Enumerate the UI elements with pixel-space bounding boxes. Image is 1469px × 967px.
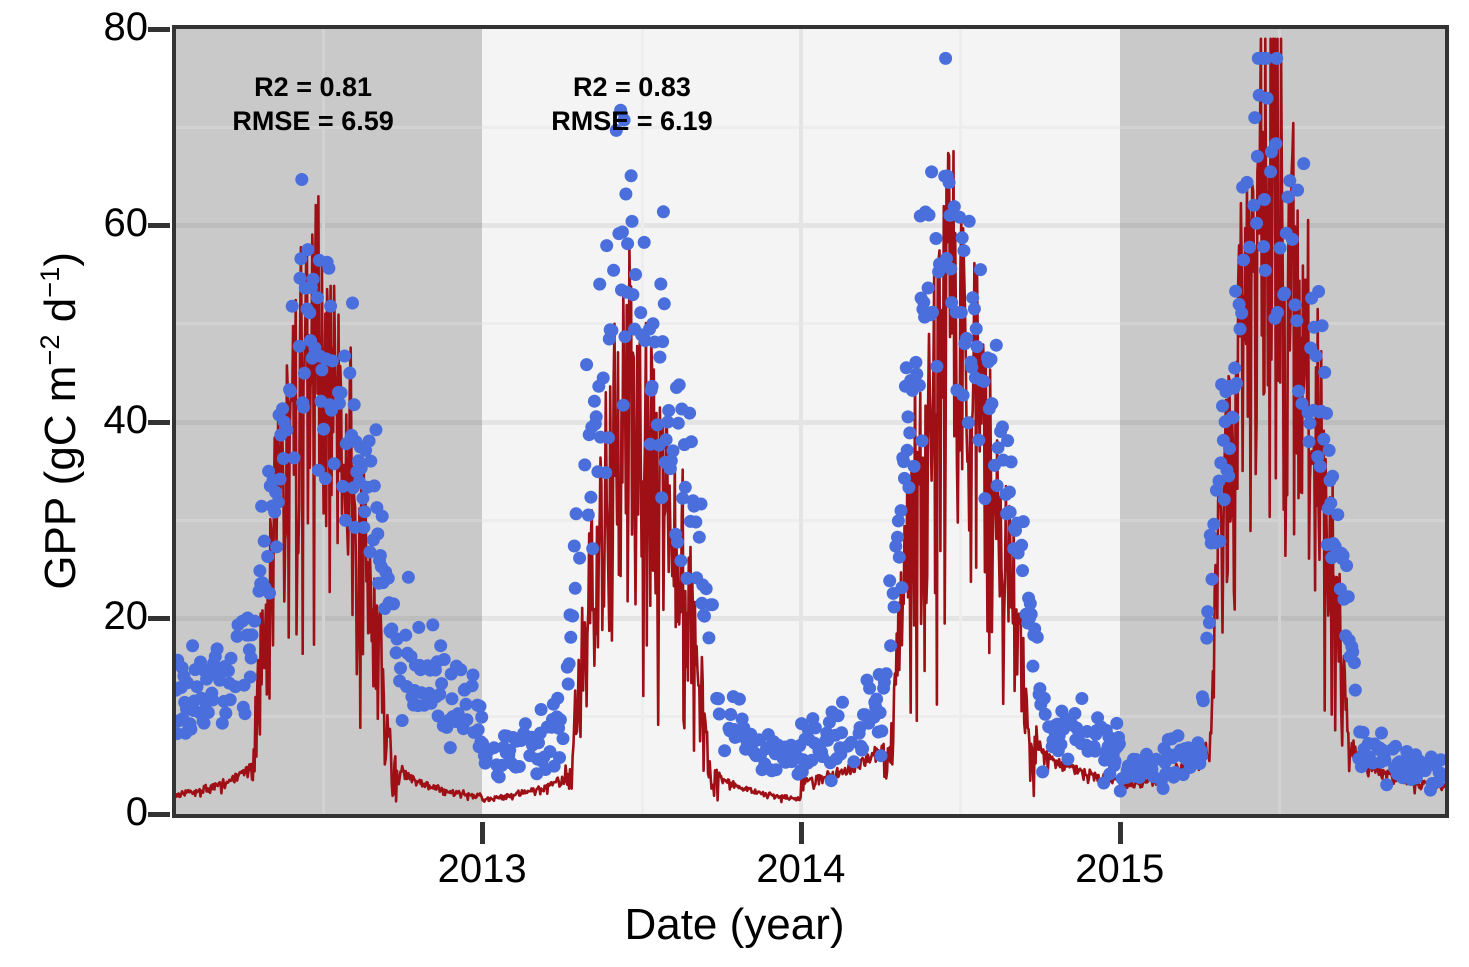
data-point xyxy=(1228,362,1241,375)
annotation-r2: R2 = 0.81 xyxy=(254,72,372,102)
data-point xyxy=(307,273,320,286)
data-point xyxy=(1200,632,1213,645)
data-point xyxy=(960,332,973,345)
data-point xyxy=(1290,314,1303,327)
data-point xyxy=(1375,727,1388,740)
data-point xyxy=(685,435,698,448)
data-point xyxy=(326,354,339,367)
data-point xyxy=(957,244,970,257)
data-point xyxy=(1216,400,1229,413)
data-point xyxy=(698,610,711,623)
data-point xyxy=(1310,349,1323,362)
data-point xyxy=(513,760,526,773)
data-point xyxy=(970,322,983,335)
data-point xyxy=(446,692,459,705)
data-point xyxy=(875,749,888,762)
data-point xyxy=(519,717,532,730)
data-point xyxy=(901,444,914,457)
data-point xyxy=(1250,217,1263,230)
data-point xyxy=(1291,184,1304,197)
data-point xyxy=(1218,493,1231,506)
data-point xyxy=(693,531,706,544)
data-point xyxy=(625,169,638,182)
annotation-validation-stats: R2 = 0.83 RMSE = 6.19 xyxy=(522,70,742,139)
data-point xyxy=(244,671,257,684)
data-point xyxy=(985,397,998,410)
data-point xyxy=(1003,486,1016,499)
data-point xyxy=(835,726,848,739)
data-point xyxy=(1197,694,1210,707)
data-point xyxy=(245,652,258,665)
data-point xyxy=(357,521,370,534)
data-point xyxy=(1316,319,1329,332)
x-tick-label: 2015 xyxy=(1075,849,1164,889)
data-point xyxy=(338,350,351,363)
data-point xyxy=(1230,377,1243,390)
data-point xyxy=(888,601,901,614)
data-point xyxy=(1259,264,1272,277)
data-point xyxy=(674,554,687,567)
data-point xyxy=(1324,497,1337,510)
data-point xyxy=(955,306,968,319)
data-point xyxy=(566,610,579,623)
data-point xyxy=(1342,590,1355,603)
data-point xyxy=(1016,564,1029,577)
data-point xyxy=(472,723,485,736)
data-point xyxy=(1039,708,1052,721)
y-tick-label: 60 xyxy=(104,203,149,243)
y-tick-mark xyxy=(148,812,170,817)
data-point xyxy=(856,742,869,755)
x-axis-title: Date (year) xyxy=(0,900,1469,950)
data-point xyxy=(825,774,838,787)
data-point xyxy=(671,536,684,549)
data-point xyxy=(966,291,979,304)
data-point xyxy=(893,551,906,564)
data-point xyxy=(460,698,473,711)
data-point xyxy=(202,706,215,719)
annotation-calibration-stats: R2 = 0.81 RMSE = 6.59 xyxy=(203,70,423,139)
data-point xyxy=(658,297,671,310)
data-point xyxy=(880,667,893,680)
data-point xyxy=(297,401,310,414)
data-point xyxy=(895,504,908,517)
data-point xyxy=(394,662,407,675)
data-point xyxy=(895,581,908,594)
data-point xyxy=(1303,417,1316,430)
data-point xyxy=(1017,515,1030,528)
data-point xyxy=(1297,157,1310,170)
data-point xyxy=(1318,366,1331,379)
y-tick-label: 80 xyxy=(104,7,149,47)
data-point xyxy=(562,678,575,691)
data-point xyxy=(1038,692,1051,705)
data-point xyxy=(1025,608,1038,621)
data-point xyxy=(1004,506,1017,519)
data-point xyxy=(599,466,612,479)
annotation-rmse: RMSE = 6.59 xyxy=(232,106,393,136)
data-point xyxy=(712,692,725,705)
data-point xyxy=(1326,470,1339,483)
data-point xyxy=(700,582,713,595)
data-point xyxy=(1222,470,1235,483)
data-point xyxy=(847,755,860,768)
data-point xyxy=(679,481,692,494)
data-point xyxy=(1036,765,1049,778)
data-point xyxy=(454,663,467,676)
data-point xyxy=(1113,737,1126,750)
data-point xyxy=(689,516,702,529)
data-point xyxy=(971,340,984,353)
data-point xyxy=(956,231,969,244)
data-point xyxy=(1270,52,1283,65)
data-point xyxy=(248,615,261,628)
data-point xyxy=(653,351,666,364)
data-point xyxy=(348,398,361,411)
data-point xyxy=(1292,385,1305,398)
data-point xyxy=(1274,242,1287,255)
data-point xyxy=(460,713,473,726)
data-point xyxy=(617,399,630,412)
data-point xyxy=(638,236,651,249)
data-point xyxy=(1257,240,1270,253)
data-point xyxy=(412,621,425,634)
data-point xyxy=(322,262,335,275)
data-point xyxy=(702,631,715,644)
data-point xyxy=(1258,193,1271,206)
data-point xyxy=(713,708,726,721)
series-layer xyxy=(176,29,1445,814)
data-point xyxy=(1195,750,1208,763)
data-point xyxy=(1026,660,1039,673)
data-point xyxy=(553,751,566,764)
data-point xyxy=(1243,241,1256,254)
data-point xyxy=(578,458,591,471)
data-point xyxy=(343,367,356,380)
data-point xyxy=(557,732,570,745)
x-tick-mark xyxy=(799,822,804,844)
data-point xyxy=(276,402,289,415)
data-point xyxy=(657,205,670,218)
data-point xyxy=(434,639,447,652)
data-point xyxy=(588,395,601,408)
y-tick-mark xyxy=(148,420,170,425)
data-point xyxy=(1031,631,1044,644)
data-point xyxy=(1323,444,1336,457)
data-point xyxy=(224,693,237,706)
data-point xyxy=(607,264,620,277)
data-point xyxy=(387,597,400,610)
data-point xyxy=(626,288,639,301)
data-point xyxy=(809,721,822,734)
data-point xyxy=(909,356,922,369)
data-point xyxy=(280,424,293,437)
data-point xyxy=(317,423,330,436)
data-point xyxy=(184,723,197,736)
data-point xyxy=(718,744,731,757)
data-point xyxy=(371,527,384,540)
data-point xyxy=(253,564,266,577)
data-point xyxy=(605,324,618,337)
data-point xyxy=(311,291,324,304)
data-point xyxy=(978,492,991,505)
data-point xyxy=(426,618,439,631)
data-point xyxy=(211,642,224,655)
data-point xyxy=(396,714,409,727)
data-point xyxy=(926,306,939,319)
data-point xyxy=(328,457,341,470)
data-point xyxy=(239,707,252,720)
data-point xyxy=(903,426,916,439)
data-point xyxy=(261,550,274,563)
data-point xyxy=(910,368,923,381)
data-point xyxy=(1207,518,1220,531)
data-point xyxy=(1269,137,1282,150)
data-point xyxy=(619,188,632,201)
data-point xyxy=(390,646,403,659)
data-point xyxy=(944,262,957,275)
data-point xyxy=(660,433,673,446)
data-point xyxy=(364,455,377,468)
data-point xyxy=(319,472,332,485)
data-point xyxy=(922,282,935,295)
data-point xyxy=(1349,684,1362,697)
data-point xyxy=(1271,306,1284,319)
data-point xyxy=(286,300,299,313)
data-point xyxy=(376,510,389,523)
data-point xyxy=(293,340,306,353)
x-tick-label: 2013 xyxy=(438,849,527,889)
data-point xyxy=(883,574,896,587)
data-point xyxy=(930,232,943,245)
data-point xyxy=(582,509,595,522)
plot-frame: R2 = 0.81 RMSE = 6.59 R2 = 0.83 RMSE = 6… xyxy=(172,25,1449,818)
data-point xyxy=(402,571,415,584)
data-point xyxy=(1312,285,1325,298)
data-point xyxy=(916,434,929,447)
data-point xyxy=(626,215,639,228)
data-point xyxy=(1110,717,1123,730)
data-point xyxy=(646,380,659,393)
data-point xyxy=(974,263,987,276)
data-point xyxy=(1206,573,1219,586)
data-point xyxy=(962,416,975,429)
data-point xyxy=(972,434,985,447)
data-point xyxy=(272,496,285,509)
data-point xyxy=(629,268,642,281)
data-point xyxy=(467,669,480,682)
annotation-rmse: RMSE = 6.19 xyxy=(551,106,712,136)
data-point xyxy=(335,386,348,399)
data-point xyxy=(978,375,991,388)
y-tick-label: 20 xyxy=(104,596,149,636)
data-point xyxy=(370,423,383,436)
data-point xyxy=(219,707,232,720)
data-point xyxy=(263,587,276,600)
data-point xyxy=(284,385,297,398)
annotation-r2: R2 = 0.83 xyxy=(573,72,691,102)
data-point xyxy=(634,306,647,319)
data-point xyxy=(1320,407,1333,420)
data-point xyxy=(870,693,883,706)
data-point xyxy=(1114,785,1127,798)
data-point xyxy=(225,652,238,665)
data-point xyxy=(902,481,915,494)
data-point xyxy=(1264,165,1277,178)
data-point xyxy=(1248,111,1261,124)
data-point xyxy=(186,639,199,652)
data-point xyxy=(724,708,737,721)
data-point xyxy=(939,52,952,65)
data-point xyxy=(573,552,586,565)
data-point xyxy=(1241,176,1254,189)
data-point xyxy=(570,507,583,520)
data-point xyxy=(287,451,300,464)
data-point xyxy=(655,491,668,504)
data-point xyxy=(597,372,610,385)
data-point xyxy=(662,404,675,417)
data-point xyxy=(875,725,888,738)
data-point xyxy=(246,628,259,641)
data-point xyxy=(654,278,667,291)
data-point xyxy=(580,358,593,371)
data-point xyxy=(925,165,938,178)
data-point xyxy=(1001,434,1014,447)
data-point xyxy=(943,176,956,189)
data-point xyxy=(295,173,308,186)
data-point xyxy=(913,379,926,392)
data-point xyxy=(1261,92,1274,105)
y-tick-label: 40 xyxy=(104,400,149,440)
data-point xyxy=(1227,411,1240,424)
data-point xyxy=(930,360,943,373)
data-point xyxy=(985,353,998,366)
data-point xyxy=(1348,656,1361,669)
chart-figure: R2 = 0.81 RMSE = 6.59 R2 = 0.83 RMSE = 6… xyxy=(0,0,1469,967)
data-point xyxy=(444,741,457,754)
y-tick-label: 0 xyxy=(126,792,148,832)
y-axis-title: GPP (gC m−2 d−1) xyxy=(34,31,86,811)
data-point xyxy=(621,237,634,250)
data-point xyxy=(667,444,680,457)
y-tick-mark xyxy=(148,223,170,228)
data-point xyxy=(593,278,606,291)
data-point xyxy=(374,549,387,562)
data-point xyxy=(438,653,451,666)
data-point xyxy=(493,771,506,784)
data-point xyxy=(673,378,686,391)
data-point xyxy=(1213,535,1226,548)
data-point xyxy=(554,713,567,726)
data-point xyxy=(1075,692,1088,705)
data-point xyxy=(382,572,395,585)
data-point xyxy=(706,598,719,611)
data-point xyxy=(1237,254,1250,267)
data-point xyxy=(1015,539,1028,552)
data-point xyxy=(1223,442,1236,455)
data-point xyxy=(298,367,311,380)
x-tick-mark xyxy=(480,822,485,844)
data-point xyxy=(602,431,615,444)
data-point xyxy=(917,296,930,309)
data-point xyxy=(1203,616,1216,629)
data-point xyxy=(303,306,316,319)
data-point xyxy=(600,239,613,252)
data-point xyxy=(368,479,381,492)
y-tick-mark xyxy=(148,616,170,621)
data-point xyxy=(836,696,849,709)
data-point xyxy=(1331,508,1344,521)
data-point xyxy=(968,302,981,315)
data-point xyxy=(1251,150,1264,163)
data-point xyxy=(957,389,970,402)
data-point xyxy=(1278,287,1291,300)
data-point xyxy=(569,582,582,595)
data-point xyxy=(683,407,696,420)
data-point xyxy=(206,694,219,707)
data-point xyxy=(270,540,283,553)
data-point xyxy=(1289,298,1302,311)
data-point xyxy=(1389,740,1402,753)
data-point xyxy=(672,417,685,430)
data-point xyxy=(908,460,921,473)
data-point xyxy=(884,639,897,652)
data-point xyxy=(891,531,904,544)
data-point xyxy=(324,300,337,313)
data-point xyxy=(695,498,708,511)
data-point xyxy=(564,631,577,644)
data-point xyxy=(963,215,976,228)
x-tick-label: 2014 xyxy=(756,849,845,889)
data-point xyxy=(616,226,629,239)
data-point xyxy=(535,703,548,716)
y-tick-mark xyxy=(148,27,170,32)
data-point xyxy=(563,657,576,670)
data-point xyxy=(399,629,412,642)
data-point xyxy=(647,317,660,330)
data-point xyxy=(733,693,746,706)
data-point xyxy=(1229,285,1242,298)
data-point xyxy=(584,491,597,504)
data-point xyxy=(832,709,845,722)
data-point xyxy=(863,682,876,695)
data-point xyxy=(996,421,1009,434)
data-point xyxy=(1157,782,1170,795)
data-point xyxy=(1005,455,1018,468)
data-point xyxy=(1061,753,1074,766)
data-point xyxy=(1172,729,1185,742)
data-point xyxy=(586,542,599,555)
data-point xyxy=(258,535,271,548)
data-point xyxy=(1235,307,1248,320)
data-point xyxy=(1286,233,1299,246)
data-point xyxy=(923,209,936,222)
data-point xyxy=(1201,605,1214,618)
data-point xyxy=(301,243,314,256)
data-point xyxy=(656,335,669,348)
data-point xyxy=(1317,433,1330,446)
data-point xyxy=(1303,435,1316,448)
data-point xyxy=(1109,755,1122,768)
data-point xyxy=(1380,778,1393,791)
data-point xyxy=(902,410,915,423)
data-point xyxy=(551,692,564,705)
data-point xyxy=(363,435,376,448)
x-tick-mark xyxy=(1118,822,1123,844)
data-point xyxy=(1234,323,1247,336)
data-point xyxy=(1357,726,1370,739)
data-point xyxy=(990,339,1003,352)
